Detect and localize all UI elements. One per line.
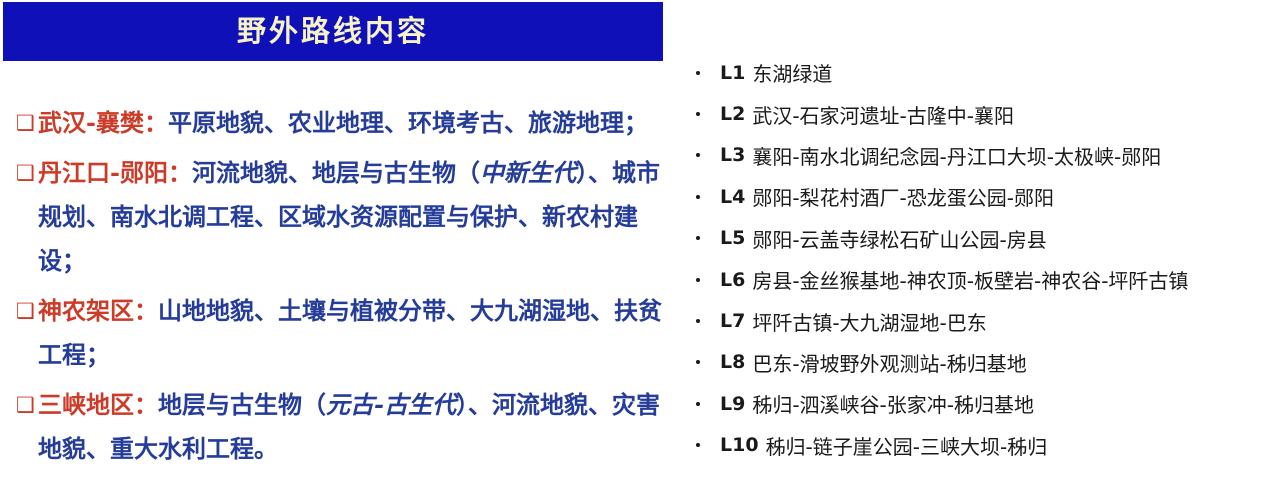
list-item: ❑ 神农架区：山地地貌、土壤与植被分带、大九湖湿地、扶贫工程；: [0, 289, 678, 377]
route-description: 平原地貌、农业地理、环境考古、旅游地理；: [168, 108, 648, 137]
dot-bullet-icon: [696, 153, 700, 157]
leg-code: L5: [720, 227, 745, 249]
dot-bullet-icon: [696, 402, 700, 406]
route-description-before: 河流地貌、地层与古生物（: [192, 158, 480, 187]
list-item: L2 武汉-石家河遗址-古隆中-襄阳: [690, 93, 1260, 134]
leg-code: L9: [720, 393, 745, 415]
list-item: ❑ 三峡地区：地层与古生物（元古-古生代）、河流地貌、灾害地貌、重大水利工程。: [0, 383, 678, 471]
leg-path: 房县-金丝猴基地-神农顶-板壁岩-神农谷-坪阡古镇: [752, 265, 1188, 294]
leg-path: 巴东-滑坡野外观测站-秭归基地: [752, 348, 1026, 377]
leg-path: 秭归-链子崖公园-三峡大坝-秭归: [766, 431, 1048, 460]
leg-code: L6: [720, 269, 745, 291]
square-bullet-icon: ❑: [16, 101, 35, 145]
route-leg-list: L1 东湖绿道 L2 武汉-石家河遗址-古隆中-襄阳 L3 襄阳-南水北调纪念园…: [690, 52, 1260, 466]
dot-bullet-icon: [696, 278, 700, 282]
route-label: 丹江口-郧阳：: [38, 158, 192, 187]
route-label: 神农架区：: [38, 296, 158, 325]
route-label: 三峡地区：: [38, 390, 158, 419]
leg-path: 武汉-石家河遗址-古隆中-襄阳: [752, 100, 1014, 129]
route-description-before: 地层与古生物（: [158, 390, 326, 419]
list-item: L10 秭归-链子崖公园-三峡大坝-秭归: [690, 425, 1260, 466]
dot-bullet-icon: [696, 443, 700, 447]
list-item: L4 郧阳-梨花村酒厂-恐龙蛋公园-郧阳: [690, 176, 1260, 217]
route-emphasis: 元古-古生代: [326, 390, 456, 419]
list-item: ❑ 武汉-襄樊：平原地貌、农业地理、环境考古、旅游地理；: [0, 101, 678, 145]
dot-bullet-icon: [696, 195, 700, 199]
dot-bullet-icon: [696, 71, 700, 75]
list-item: L7 坪阡古镇-大九湖湿地-巴东: [690, 300, 1260, 341]
leg-code: L8: [720, 351, 745, 373]
list-item: L8 巴东-滑坡野外观测站-秭归基地: [690, 342, 1260, 383]
list-item: L6 房县-金丝猴基地-神农顶-板壁岩-神农谷-坪阡古镇: [690, 259, 1260, 300]
dot-bullet-icon: [696, 112, 700, 116]
leg-path: 郧阳-梨花村酒厂-恐龙蛋公园-郧阳: [752, 182, 1054, 211]
title-banner: 野外路线内容: [3, 2, 663, 61]
leg-code: L10: [720, 434, 759, 456]
leg-code: L7: [720, 310, 745, 332]
route-label: 武汉-襄樊：: [38, 108, 168, 137]
leg-code: L1: [720, 62, 745, 84]
leg-path: 郧阳-云盖寺绿松石矿山公园-房县: [752, 224, 1046, 253]
list-item: L1 东湖绿道: [690, 52, 1260, 93]
square-bullet-icon: ❑: [16, 289, 35, 333]
leg-path: 东湖绿道: [752, 58, 832, 87]
leg-code: L2: [720, 103, 745, 125]
page-title: 野外路线内容: [237, 17, 429, 46]
leg-path: 坪阡古镇-大九湖湿地-巴东: [752, 307, 986, 336]
dot-bullet-icon: [696, 236, 700, 240]
square-bullet-icon: ❑: [16, 151, 35, 195]
slide-canvas: 野外路线内容 ❑ 武汉-襄樊：平原地貌、农业地理、环境考古、旅游地理； ❑ 丹江…: [0, 0, 1266, 476]
leg-code: L4: [720, 186, 745, 208]
list-item: ❑ 丹江口-郧阳：河流地貌、地层与古生物（中新生代）、城市规划、南水北调工程、区…: [0, 151, 678, 283]
route-emphasis: 中新生代: [480, 158, 576, 187]
route-content-list: ❑ 武汉-襄樊：平原地貌、农业地理、环境考古、旅游地理； ❑ 丹江口-郧阳：河流…: [0, 101, 678, 477]
list-item: L5 郧阳-云盖寺绿松石矿山公园-房县: [690, 218, 1260, 259]
left-content-panel: 野外路线内容 ❑ 武汉-襄樊：平原地貌、农业地理、环境考古、旅游地理； ❑ 丹江…: [0, 0, 678, 476]
leg-path: 襄阳-南水北调纪念园-丹江口大坝-太极峡-郧阳: [752, 141, 1161, 170]
leg-code: L3: [720, 144, 745, 166]
leg-path: 秭归-泗溪峡谷-张家冲-秭归基地: [752, 389, 1034, 418]
dot-bullet-icon: [696, 319, 700, 323]
square-bullet-icon: ❑: [16, 383, 35, 427]
dot-bullet-icon: [696, 360, 700, 364]
list-item: L9 秭归-泗溪峡谷-张家冲-秭归基地: [690, 383, 1260, 424]
list-item: L3 襄阳-南水北调纪念园-丹江口大坝-太极峡-郧阳: [690, 135, 1260, 176]
